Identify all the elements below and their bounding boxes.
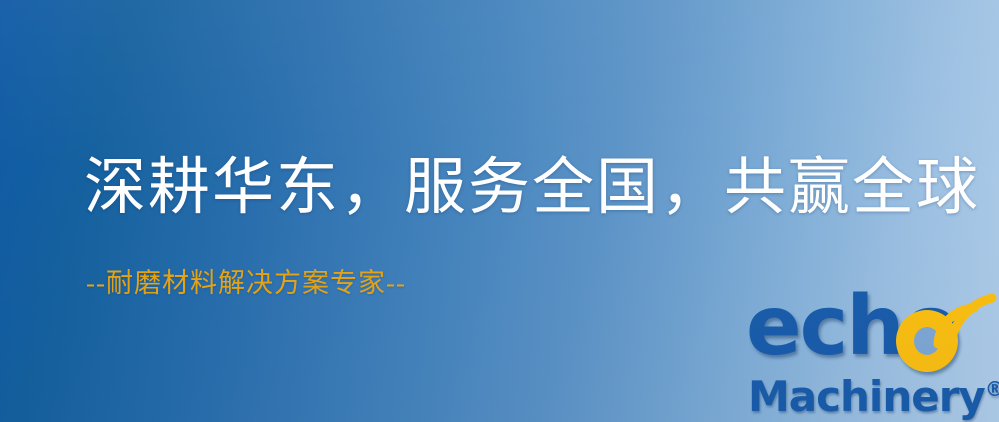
logo-brand-secondary-row: Machinery® bbox=[748, 366, 999, 420]
banner-headline: 深耕华东，服务全国，共赢全球 bbox=[84, 152, 980, 224]
echo-machinery-logo: echo Machinery® bbox=[744, 296, 996, 418]
promo-banner: 深耕华东，服务全国，共赢全球 --耐磨材料解决方案专家-- echo Machi… bbox=[0, 0, 999, 422]
registered-trademark-icon: ® bbox=[985, 377, 999, 401]
logo-wordmark: echo bbox=[744, 296, 996, 374]
banner-subtitle: --耐磨材料解决方案专家-- bbox=[86, 266, 406, 300]
signal-wave-icon bbox=[930, 282, 999, 356]
logo-brand-secondary: Machinery bbox=[748, 372, 985, 421]
